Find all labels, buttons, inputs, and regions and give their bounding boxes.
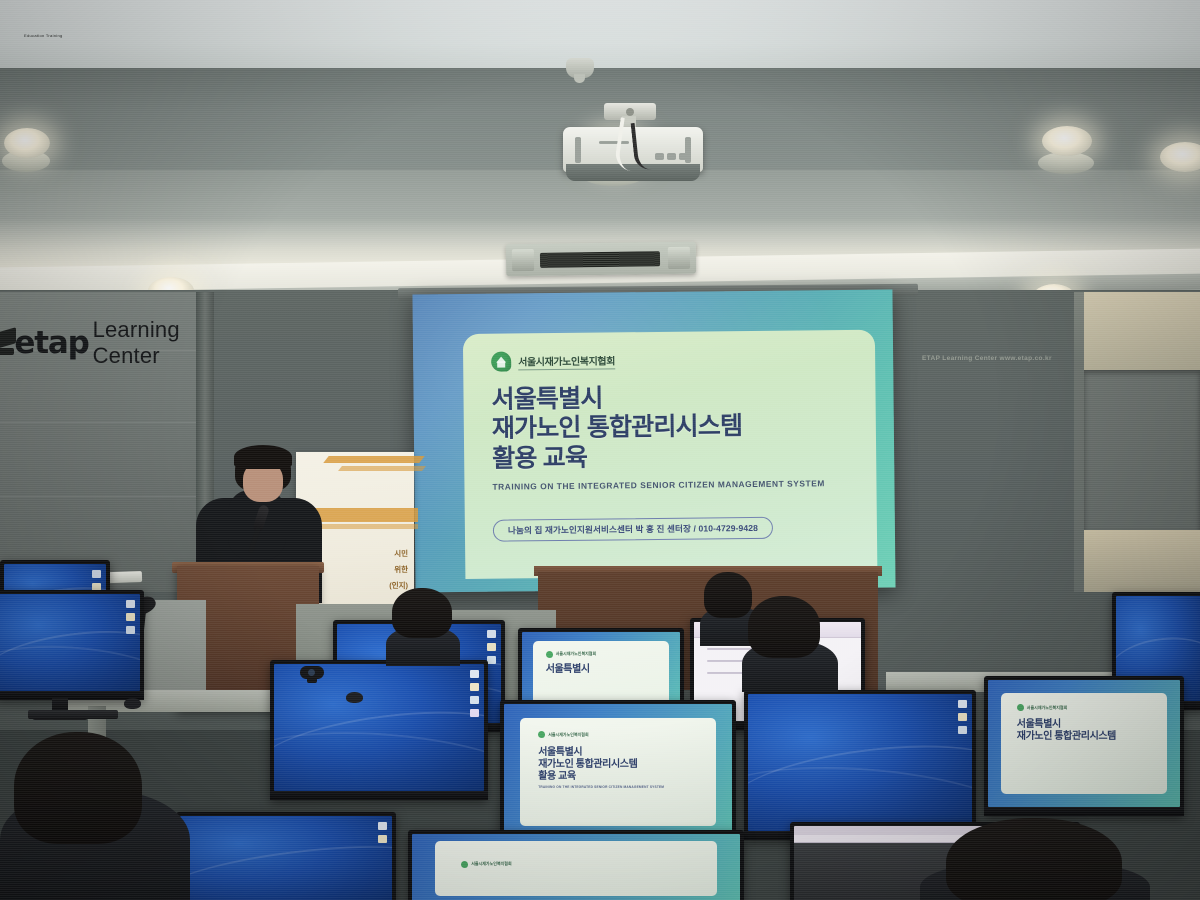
- monitor: 서울시재가노인복지협회 서울특별시 재가노인 통합관리시스템 활용 교육 TRA…: [500, 700, 736, 848]
- desktop-icon: [958, 713, 967, 721]
- desktop-icons: [487, 630, 496, 664]
- etap-learning-center-sign: etap Learning Center: [0, 322, 194, 364]
- desktop-icon: [126, 600, 135, 608]
- desktop-icon: [487, 656, 496, 664]
- desktop-icon: [378, 835, 387, 843]
- desktop-icon: [487, 630, 496, 638]
- desktop-icon: [487, 643, 496, 651]
- keyboard: [28, 710, 118, 719]
- attendee-head: [946, 818, 1122, 900]
- wallpaper-wave: [180, 834, 392, 900]
- etap-sign-subtext: Education Training: [24, 33, 63, 38]
- mirrored-org-name: 서울시재가노인복지협회: [1027, 705, 1067, 711]
- desktop-icon: [378, 822, 387, 830]
- desktop-icons: [92, 570, 101, 591]
- mirrored-title-3: 활용 교육: [538, 771, 716, 783]
- etap-logo-icon: [0, 328, 10, 358]
- monitor-screen: [0, 594, 140, 691]
- projector-port: [679, 153, 688, 160]
- etap-sign-label: Learning Center: [93, 317, 194, 369]
- desktop-icon: [958, 726, 967, 734]
- wall-seam: [0, 496, 196, 497]
- monitor: [270, 660, 488, 800]
- house-logo-icon: [546, 651, 553, 658]
- wall-seam: [0, 422, 196, 423]
- desktop-icons: [378, 822, 387, 843]
- desktop-icon: [958, 700, 967, 708]
- computer-mouse: [346, 692, 363, 703]
- presenter-hair-top: [234, 445, 292, 469]
- mirrored-slide-card: 서울시재가노인복지협회 서울특별시 재가노인 통합관리시스템: [1001, 693, 1166, 795]
- mirrored-org-name: 서울시재가노인복지협회: [556, 651, 596, 657]
- webcam-mount: [307, 678, 317, 683]
- monitor: 서울시재가노인복지협회: [408, 830, 744, 900]
- monitor: [744, 690, 976, 840]
- smoke-detector-icon: [566, 58, 594, 78]
- mirrored-title-1: 서울특별시: [546, 664, 669, 676]
- banner-text-line-3: (인지): [389, 580, 408, 591]
- desktop-icon: [126, 626, 135, 634]
- projector-port: [667, 153, 676, 160]
- banner-stripe: [323, 456, 424, 463]
- mirrored-title-1: 서울특별시: [1017, 719, 1167, 731]
- desktop-icons: [958, 700, 967, 734]
- slide-title-line-3: 활용 교육: [492, 440, 876, 473]
- mirrored-logo-row: 서울시재가노인복지협회: [461, 861, 717, 868]
- monitor-screen-mirrored-slide: 서울시재가노인복지협회: [412, 834, 740, 900]
- mirrored-title-2: 재가노인 통합관리시스템: [1017, 731, 1167, 743]
- slide-organization-logo-row: 서울시재가노인복지협회: [491, 348, 875, 372]
- computer-mouse: [124, 698, 141, 709]
- mirrored-title-2: 재가노인 통합관리시스템: [538, 759, 716, 771]
- slide-contact-pill: 나눔의 집 재가노인지원서비스센터 박 홍 진 센터장 / 010-4729-9…: [493, 517, 773, 542]
- ac-grille: [540, 251, 660, 268]
- ceiling-downlight: [1042, 126, 1092, 156]
- monitor-screen: [748, 694, 972, 831]
- house-logo-icon: [1017, 704, 1024, 711]
- monitor-bezel: [984, 807, 1184, 816]
- attendee-head: [392, 588, 452, 638]
- monitor: [176, 812, 396, 900]
- banner-accent-bar: [314, 524, 418, 529]
- mirrored-title-1: 서울특별시: [538, 747, 716, 759]
- etap-brand-text: etap: [14, 325, 88, 361]
- mirrored-slide-card: 서울시재가노인복지협회 서울특별시 재가노인 통합관리시스템 활용 교육 TRA…: [520, 718, 716, 826]
- mirrored-logo-row: 서울시재가노인복지협회: [1017, 704, 1167, 711]
- monitor-bezel: [270, 791, 488, 800]
- monitor-screen: [274, 664, 484, 791]
- projection-screen: 서울시재가노인복지협회 서울특별시 재가노인 통합관리시스템 활용 교육 TRA…: [412, 289, 895, 592]
- desktop-icons: [126, 600, 135, 634]
- classroom-photo-scene: etap Learning Center Education Training …: [0, 0, 1200, 900]
- banner-stripe: [338, 466, 426, 471]
- monitor: [0, 590, 144, 700]
- mirrored-org-name: 서울시재가노인복지협회: [548, 732, 588, 738]
- slide-content-card: 서울시재가노인복지협회 서울특별시 재가노인 통합관리시스템 활용 교육 TRA…: [463, 330, 878, 579]
- desktop-icon: [92, 570, 101, 578]
- projector-vent: [575, 137, 581, 163]
- monitor-screen-mirrored-slide: 서울시재가노인복지협회 서울특별시 재가노인 통합관리시스템 활용 교육 TRA…: [504, 704, 732, 839]
- attendee-head: [748, 596, 820, 658]
- slide-title-line-2: 재가노인 통합관리시스템: [492, 411, 876, 444]
- mirrored-slide-card: 서울시재가노인복지협회: [435, 841, 717, 896]
- mirrored-logo-row: 서울시재가노인복지협회: [538, 731, 716, 738]
- slide-english-subtitle: TRAINING ON THE INTEGRATED SENIOR CITIZE…: [492, 477, 876, 491]
- mirrored-logo-row: 서울시재가노인복지협회: [546, 651, 669, 658]
- ac-vane-left: [512, 249, 534, 271]
- banner-text-line-1: 시민: [394, 548, 408, 559]
- house-logo-icon: [538, 731, 545, 738]
- house-logo-icon: [461, 861, 468, 868]
- attendee-head: [704, 572, 752, 618]
- desktop-icon: [470, 696, 479, 704]
- mirrored-org-name: 서울시재가노인복지협회: [471, 861, 511, 867]
- desktop-icon: [470, 670, 479, 678]
- attendee-head: [14, 732, 142, 844]
- ac-vane-right: [668, 247, 690, 269]
- house-logo-icon: [491, 351, 511, 371]
- right-wall-alcove: [1084, 370, 1200, 530]
- right-wall-signage-text: ETAP Learning Center www.etap.co.kr: [922, 355, 1052, 362]
- desktop-icon: [470, 709, 479, 717]
- ceiling-upper-slab: [0, 0, 1200, 72]
- desktop-icons: [470, 670, 479, 717]
- right-wall-lower-panel: [1084, 530, 1200, 592]
- slide-organization-name: 서울시재가노인복지협회: [518, 352, 615, 370]
- monitor-screen: [180, 816, 392, 900]
- desktop-icon: [470, 683, 479, 691]
- banner-accent-bar: [314, 508, 418, 522]
- monitor: 서울시재가노인복지협회 서울특별시 재가노인 통합관리시스템: [984, 676, 1184, 816]
- right-wall-upper-panel: [1084, 292, 1200, 370]
- slide-title-line-1: 서울특별시: [491, 382, 875, 415]
- desktop-icon: [126, 613, 135, 621]
- banner-text-line-2: 위한: [394, 564, 408, 575]
- ceiling-ac-diffuser: [506, 242, 696, 277]
- monitor-screen-mirrored-slide: 서울시재가노인복지협회 서울특별시 재가노인 통합관리시스템: [988, 680, 1180, 807]
- ceiling-downlight: [4, 128, 50, 158]
- monitor-bezel: [0, 691, 144, 700]
- mirrored-subtitle: TRAINING ON THE INTEGRATED SENIOR CITIZE…: [538, 785, 716, 789]
